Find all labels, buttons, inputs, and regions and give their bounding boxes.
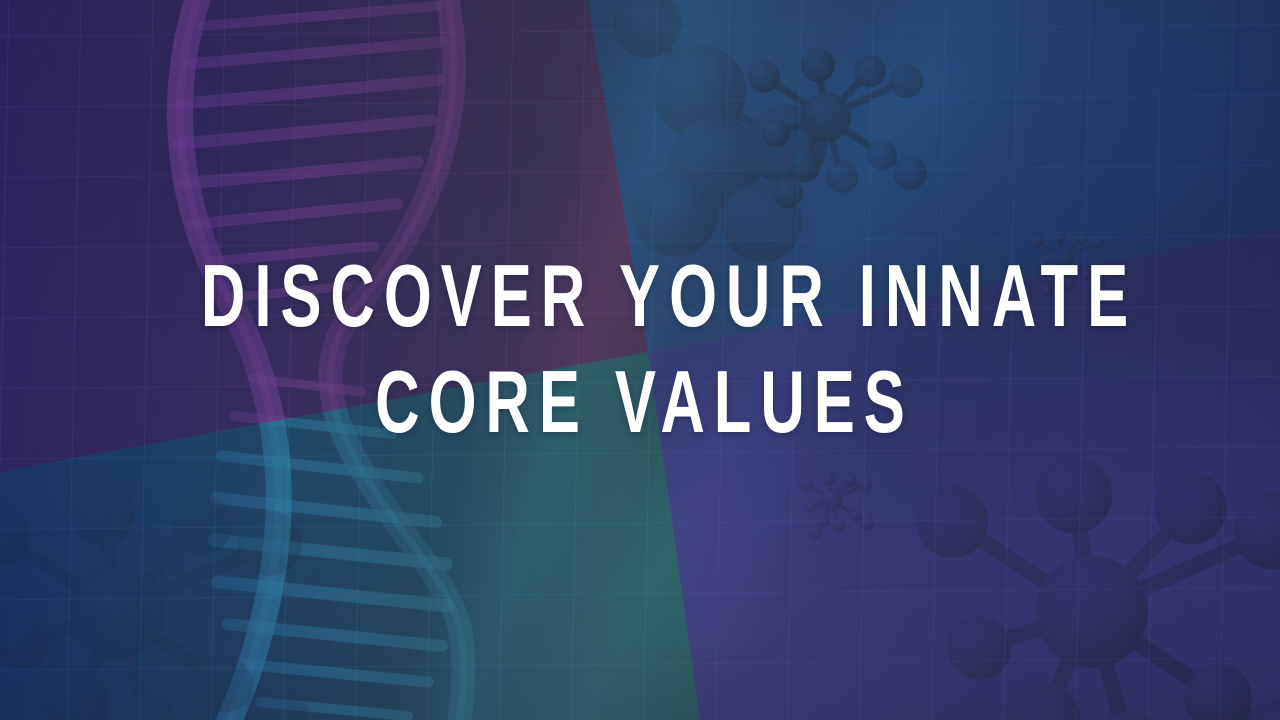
headline-line-2: CORE VALUES (192, 358, 1088, 446)
headline-line-1: DISCOVER YOUR INNATE (192, 252, 1088, 340)
page-title: DISCOVER YOUR INNATE CORE VALUES (0, 252, 1280, 446)
slide-canvas: DISCOVER YOUR INNATE CORE VALUES (0, 0, 1280, 720)
